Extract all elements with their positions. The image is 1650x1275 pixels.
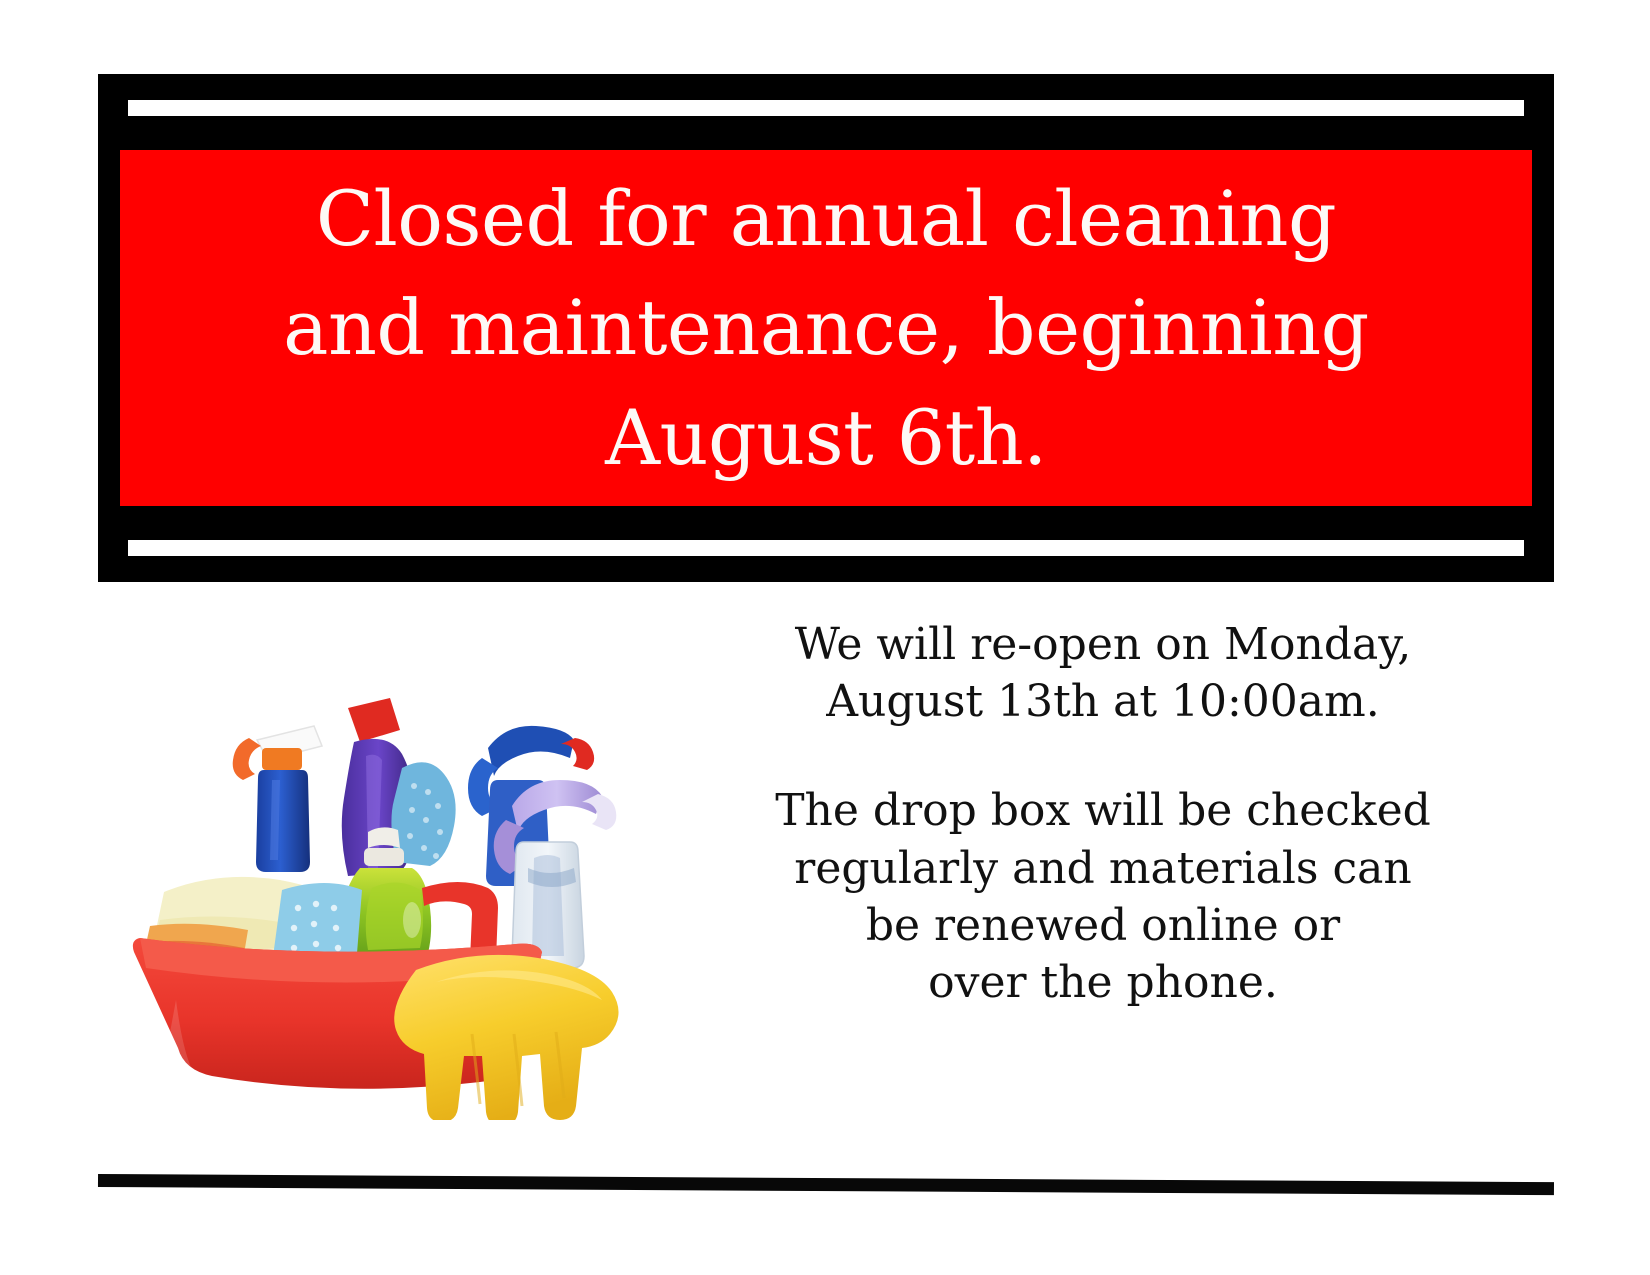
lower-content: We will re-open on Monday, August 13th a… bbox=[98, 600, 1554, 1140]
banner-stripe-bottom bbox=[128, 540, 1524, 556]
bottom-divider-rule bbox=[98, 1174, 1554, 1195]
headline-line-1: Closed for annual cleaning bbox=[316, 164, 1336, 273]
drop-box-paragraph: The drop box will be checked regularly a… bbox=[658, 782, 1548, 1011]
cleaning-supplies-illustration bbox=[116, 620, 636, 1120]
cleaning-supplies-photo bbox=[116, 620, 636, 1120]
headline-banner-panel: Closed for annual cleaning and maintenan… bbox=[120, 150, 1532, 506]
reopen-paragraph: We will re-open on Monday, August 13th a… bbox=[658, 616, 1548, 730]
headline-line-2: and maintenance, beginning bbox=[283, 273, 1369, 382]
headline-banner-frame: Closed for annual cleaning and maintenan… bbox=[98, 74, 1554, 582]
closure-notice-poster: Closed for annual cleaning and maintenan… bbox=[0, 0, 1650, 1275]
banner-stripe-top bbox=[128, 100, 1524, 116]
notice-copy-block: We will re-open on Monday, August 13th a… bbox=[658, 616, 1548, 1011]
headline-line-3: August 6th. bbox=[605, 383, 1047, 492]
